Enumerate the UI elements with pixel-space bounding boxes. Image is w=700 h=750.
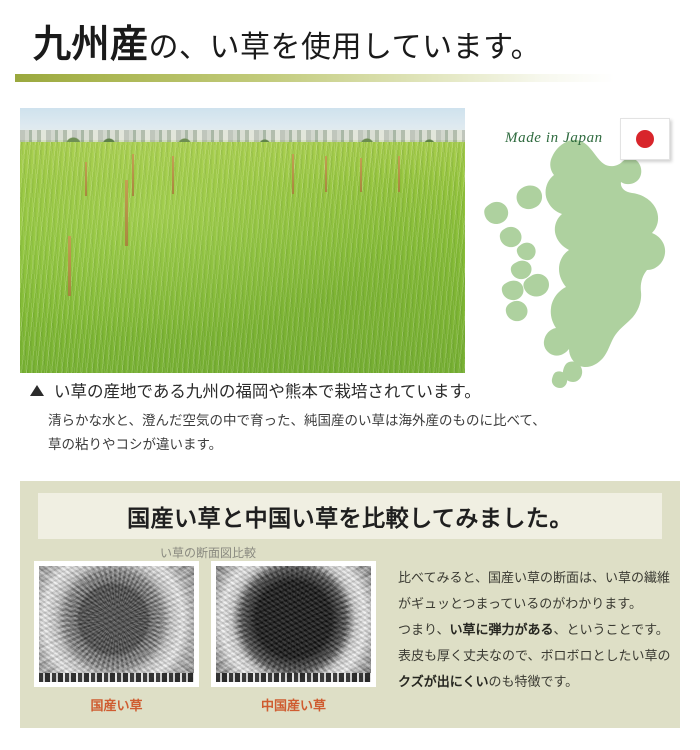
comparison-heading-band: 国産い草と中国い草を比較してみました。: [38, 493, 662, 539]
header-section: 九州産の、い草を使用しています。: [0, 22, 700, 86]
field-stake: [360, 158, 362, 192]
cross-section-label: い草の断面図比較: [160, 544, 256, 561]
comparison-description: 比べてみると、国産い草の断面は、い草の繊維 がギュッとつまっているのがわかります…: [398, 565, 673, 695]
field-stake: [125, 180, 128, 246]
micro-scale-bar: [216, 673, 371, 682]
comparison-line-1: 比べてみると、国産い草の断面は、い草の繊維: [398, 565, 673, 591]
comparison-line-5-bold: クズが出にくい: [398, 674, 488, 689]
header-gradient-rule: [15, 74, 615, 82]
photo-caption-lead: い草の産地である九州の福岡や熊本で栽培されています。: [54, 378, 481, 402]
cross-section-domestic-image: [34, 561, 199, 687]
cross-section-chinese-image: [211, 561, 376, 687]
field-stake: [68, 236, 71, 296]
comparison-heading: 国産い草と中国い草を比較してみました。: [127, 499, 573, 533]
photo-caption-body-line2: 草の粘りやコシが違います。: [48, 433, 648, 457]
comparison-line-5-suffix: のも特徴です。: [488, 674, 578, 689]
triangle-marker-icon: [30, 385, 44, 396]
field-stake: [292, 154, 294, 194]
comparison-line-3-prefix: つまり、: [398, 622, 449, 637]
caption-domestic: 国産い草: [34, 695, 199, 714]
caption-chinese: 中国産い草: [211, 695, 376, 714]
field-stake: [325, 156, 327, 192]
comparison-line-2: がギュッとつまっているのがわかります。: [398, 591, 673, 617]
photo-caption-body: 清らかな水と、澄んだ空気の中で育った、純国産のい草は海外産のものに比べて、 草の…: [48, 409, 648, 457]
comparison-panel: 国産い草と中国い草を比較してみました。 い草の断面図比較 国産い草 中国産い草 …: [20, 481, 680, 728]
page-title-emphasis: 九州産: [33, 24, 149, 66]
field-stake: [398, 156, 400, 192]
japan-flag-icon: [620, 118, 670, 160]
comparison-line-3-suffix: 、ということです。: [554, 622, 669, 637]
photo-caption-row: い草の産地である九州の福岡や熊本で栽培されています。: [30, 378, 670, 402]
japan-flag-circle: [636, 130, 654, 148]
igusa-field-photograph: [20, 108, 465, 373]
kyushu-island-map: [470, 130, 685, 392]
comparison-line-3: つまり、い草に弾力がある、ということです。: [398, 617, 673, 643]
comparison-line-4: 表皮も厚く丈夫なので、ボロボロとしたい草の: [398, 643, 673, 669]
field-stake: [85, 162, 87, 196]
photo-caption-body-line1: 清らかな水と、澄んだ空気の中で育った、純国産のい草は海外産のものに比べて、: [48, 409, 648, 433]
product-description-page: 九州産の、い草を使用しています。: [0, 0, 700, 750]
field-stake: [132, 154, 134, 196]
page-title: 九州産の、い草を使用しています。: [33, 22, 541, 71]
made-in-japan-label: Made in Japan: [505, 130, 603, 147]
comparison-line-3-bold: い草に弾力がある: [449, 622, 553, 637]
comparison-line-5: クズが出にくいのも特徴です。: [398, 669, 673, 695]
page-title-rest: の、い草を使用しています。: [149, 31, 542, 64]
cross-section-image-group: [34, 561, 376, 687]
map-section: Made in Japan: [470, 108, 685, 393]
cross-section-captions: 国産い草 中国産い草: [34, 695, 394, 714]
micro-scale-bar: [39, 673, 194, 682]
field-stake: [172, 156, 174, 194]
